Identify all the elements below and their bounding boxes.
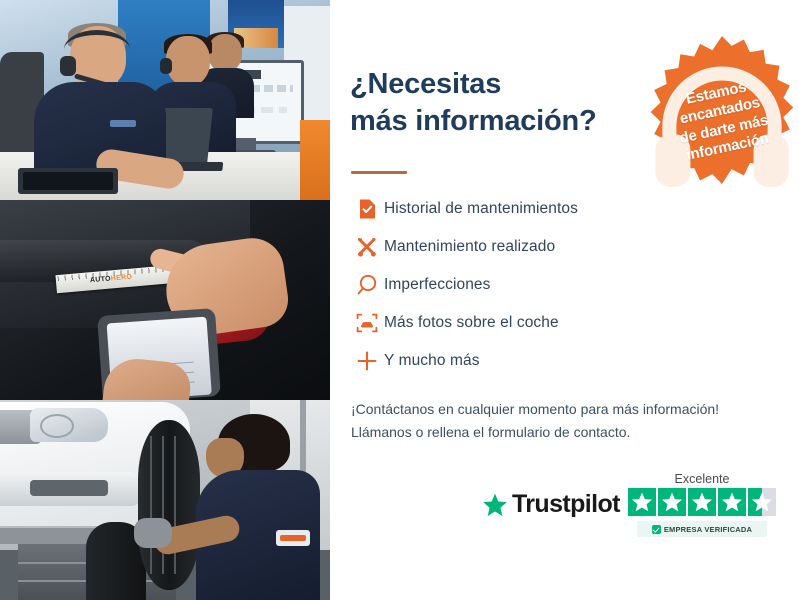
star-glyph [691, 491, 713, 513]
feature-list: Historial de mantenimientos Mantenimient… [350, 190, 690, 380]
feature-item-more-photos: Más fotos sobre el coche [350, 304, 690, 342]
title-divider [351, 171, 407, 174]
trustpilot-star-tile-half [748, 488, 776, 516]
star-glyph [631, 491, 653, 513]
trustpilot-widget[interactable]: Trustpilot Excelente [482, 472, 782, 554]
trustpilot-wordmark: Trustpilot [512, 490, 620, 519]
wheel-service-photo [0, 400, 330, 600]
trustpilot-brand: Trustpilot [482, 490, 620, 519]
feature-label: Y mucho más [384, 352, 480, 370]
feature-item-maintenance-history: Historial de mantenimientos [350, 190, 690, 228]
desk-tablet [18, 168, 118, 194]
magnifier-glyph [356, 274, 378, 296]
contact-badge: Estamos encantados de darte más informac… [646, 34, 798, 186]
trustpilot-rating-label: Excelente [622, 472, 782, 486]
call-center-agents-photo [0, 0, 330, 200]
document-check-glyph [358, 198, 377, 220]
feature-label: Más fotos sobre el coche [384, 314, 559, 332]
star-glyph [721, 491, 743, 513]
crossed-tools-icon [350, 236, 384, 258]
trustpilot-star-tile [688, 488, 716, 516]
page-title-line-2: más información? [350, 103, 680, 140]
photo-strip: AUTOHERO [0, 0, 330, 600]
agent-foreground [34, 26, 166, 176]
contact-line-1: ¡Contáctanos en cualquier momento para m… [351, 398, 771, 421]
feature-label: Imperfecciones [384, 276, 491, 294]
verified-check-icon [652, 525, 661, 534]
contact-text: ¡Contáctanos en cualquier momento para m… [351, 398, 771, 444]
page-title-line-1: ¿Necesitas [350, 66, 680, 103]
trustpilot-star-icon [482, 492, 508, 518]
orange-rack [300, 120, 330, 200]
feature-item-maintenance-done: Mantenimiento realizado [350, 228, 690, 266]
mechanic [196, 414, 320, 600]
uniform-logo [110, 120, 136, 127]
plus-icon [350, 350, 384, 372]
trustpilot-star-tile [658, 488, 686, 516]
uniform-patch [276, 530, 310, 546]
car-headlamp [30, 408, 108, 442]
car-photo-frame-glyph [356, 312, 378, 334]
car-photo-frame-icon [350, 312, 384, 334]
feature-item-much-more: Y mucho más [350, 342, 690, 380]
car-bumper [0, 472, 140, 506]
trustpilot-stars [622, 488, 782, 516]
headset-earcup [60, 56, 76, 76]
plus-glyph [356, 350, 378, 372]
vehicle-inspection-photo: AUTOHERO [0, 200, 330, 400]
verified-business-label: EMPRESA VERIFICADA [664, 525, 752, 534]
work-glove [134, 518, 172, 548]
content-panel: ¿Necesitas más información? Estamos enca… [330, 0, 799, 600]
feature-label: Mantenimiento realizado [384, 238, 555, 256]
contact-line-2: Llámanos o rellena el formulario de cont… [351, 421, 771, 444]
document-check-icon [350, 198, 384, 220]
front-tire [138, 420, 200, 590]
trustpilot-star-tile [718, 488, 746, 516]
feature-item-imperfections: Imperfecciones [350, 266, 690, 304]
star-glyph [751, 491, 773, 513]
verified-business-badge: EMPRESA VERIFICADA [637, 521, 767, 537]
agent-head [166, 36, 210, 86]
crossed-tools-glyph [356, 236, 378, 258]
magnifier-icon [350, 274, 384, 296]
feature-label: Historial de mantenimientos [384, 200, 578, 218]
page-title: ¿Necesitas más información? [350, 66, 680, 139]
star-glyph [661, 491, 683, 513]
trustpilot-star-tile [628, 488, 656, 516]
trustpilot-rating: Excelente [622, 472, 782, 537]
information-banner: AUTOHERO [0, 0, 799, 600]
